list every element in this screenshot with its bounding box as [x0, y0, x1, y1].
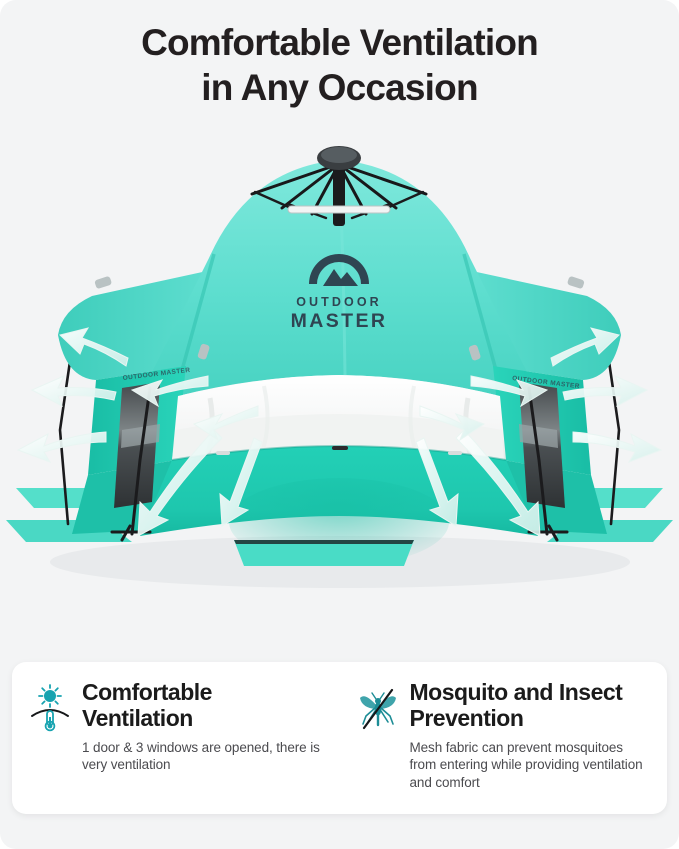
- front-ground-flap: [234, 540, 414, 566]
- brand-line2: MASTER: [291, 310, 388, 332]
- feature-text-block: Mosquito and Insect Prevention Mesh fabr…: [410, 680, 654, 800]
- feature-cards: Comfortable Ventilation 1 door & 3 windo…: [12, 662, 667, 814]
- feature-description: 1 door & 3 windows are opened, there is …: [82, 739, 326, 775]
- product-hero-image: OUTDOOR MASTER OUTDOOR MASTER OUTD: [0, 130, 679, 650]
- feature-card-ventilation: Comfortable Ventilation 1 door & 3 windo…: [12, 662, 340, 814]
- product-feature-page: Comfortable Ventilation in Any Occasion: [0, 0, 679, 849]
- page-title: Comfortable Ventilation in Any Occasion: [0, 20, 679, 110]
- title-line2: in Any Occasion: [28, 65, 651, 110]
- feature-title: Comfortable Ventilation: [82, 680, 326, 732]
- feature-description: Mesh fabric can prevent mosquitoes from …: [410, 739, 654, 793]
- title-rest: Ventilation: [350, 22, 538, 63]
- feature-card-mosquito: Mosquito and Insect Prevention Mesh fabr…: [340, 662, 668, 814]
- title-accent: Comfortable: [141, 22, 350, 63]
- mosquito-prohibited-icon: [356, 684, 400, 732]
- feature-title: Mosquito and Insect Prevention: [410, 680, 654, 732]
- feature-text-block: Comfortable Ventilation 1 door & 3 windo…: [82, 680, 326, 800]
- sun-thermometer-icon: [28, 684, 72, 732]
- brand-line1: OUTDOOR: [296, 295, 382, 309]
